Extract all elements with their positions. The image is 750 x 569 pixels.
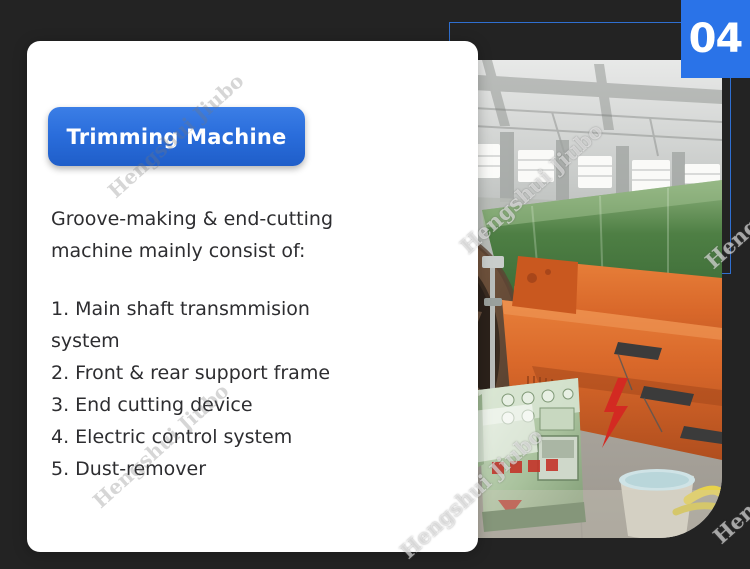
list-item: 2. Front & rear support frame xyxy=(51,357,351,389)
card-copy: Groove-making & end-cutting machine main… xyxy=(51,203,351,485)
lead-paragraph: Groove-making & end-cutting machine main… xyxy=(51,203,351,267)
section-title-text: Trimming Machine xyxy=(67,125,287,149)
slide-canvas: 04 Trimming Machine Groove-making & end-… xyxy=(0,0,750,569)
list-item: 3. End cutting device xyxy=(51,389,351,421)
list-item: 5. Dust-remover xyxy=(51,453,351,485)
list-item: 4. Electric control system xyxy=(51,421,351,453)
feature-list: 1. Main shaft transmmision system 2. Fro… xyxy=(51,293,351,485)
step-number-badge: 04 xyxy=(681,0,750,78)
step-number-text: 04 xyxy=(689,19,743,59)
section-title-pill: Trimming Machine xyxy=(48,107,305,166)
list-item: 1. Main shaft transmmision system xyxy=(51,293,351,357)
content-card: Trimming Machine Groove-making & end-cut… xyxy=(27,41,478,552)
